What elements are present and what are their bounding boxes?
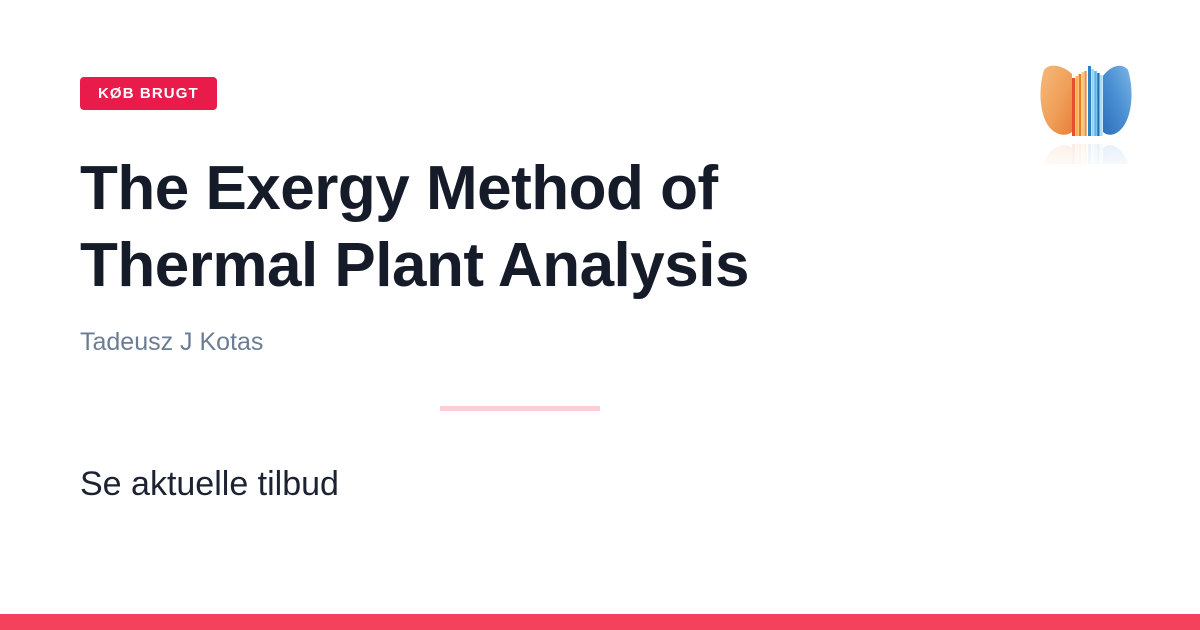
cta-label[interactable]: Se aktuelle tilbud	[80, 463, 960, 505]
status-badge-label: KØB BRUGT	[98, 85, 199, 102]
og-card: KØB BRUGT	[0, 0, 1200, 630]
site-logo[interactable]	[1030, 52, 1142, 164]
page-title: The Exergy Method of Thermal Plant Analy…	[80, 150, 880, 304]
butterfly-book-logo-icon	[1030, 52, 1142, 164]
status-badge: KØB BRUGT	[80, 77, 217, 110]
book-author: Tadeusz J Kotas	[80, 326, 960, 358]
card-content: The Exergy Method of Thermal Plant Analy…	[80, 150, 960, 505]
section-divider	[440, 406, 600, 411]
bottom-accent-bar	[0, 614, 1200, 630]
